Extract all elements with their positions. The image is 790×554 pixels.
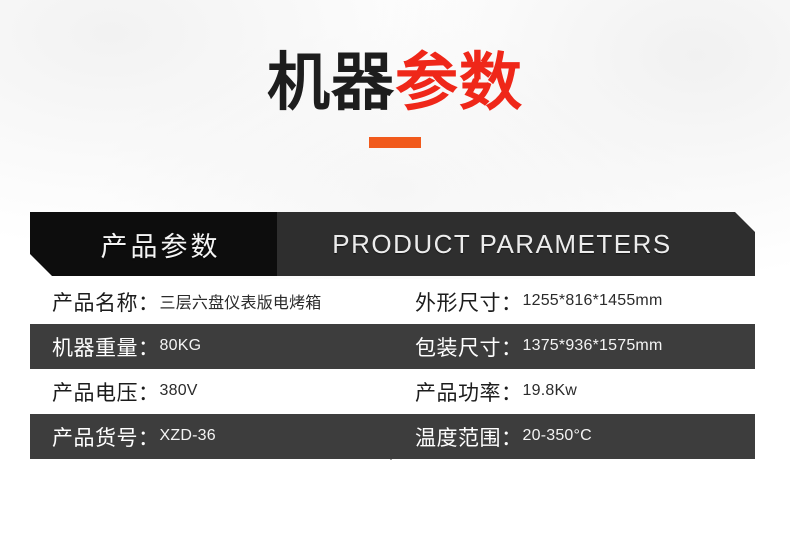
table-row: 产品名称： 三层六盘仪表版电烤箱 外形尺寸： 1255*816*1455mm [30,279,755,324]
param-value: 380V [160,382,198,401]
parameters-table: 产品名称： 三层六盘仪表版电烤箱 外形尺寸： 1255*816*1455mm 机… [30,279,755,459]
table-cell-left: 产品货号： XZD-36 [30,414,390,459]
param-value: XZD-36 [160,427,216,446]
table-cell-left: 产品名称： 三层六盘仪表版电烤箱 [30,279,390,324]
table-row: 产品电压： 380V 产品功率： 19.8Kw [30,369,755,414]
param-value: 三层六盘仪表版电烤箱 [160,289,322,314]
section-header-chinese-label: 产品参数 [101,225,221,264]
section-header-left-panel: 产品参数 [30,212,277,276]
param-label: 产品货号： [52,422,160,452]
table-cell-right: 温度范围： 20-350°C [390,414,755,459]
param-value: 80KG [160,337,202,356]
param-label: 产品电压： [52,377,160,407]
product-parameters-page: 机器参数 产品参数 PRODUCT PARAMETERS 产品名称： 三层六盘仪… [0,0,790,554]
param-label: 包装尺寸： [415,332,523,362]
section-header-right-panel: PRODUCT PARAMETERS [277,212,755,276]
table-cell-left: 产品电压： 380V [30,369,390,414]
param-label: 产品名称： [52,287,160,317]
param-value: 1375*936*1575mm [523,337,663,356]
table-cell-right: 外形尺寸： 1255*816*1455mm [390,279,755,324]
table-cell-right: 产品功率： 19.8Kw [390,369,755,414]
page-title: 机器参数 [0,44,790,122]
section-header-bar: 产品参数 PRODUCT PARAMETERS [30,212,755,276]
param-label: 产品功率： [415,377,523,407]
page-title-accent-part: 参数 [395,48,523,118]
param-label: 机器重量： [52,332,160,362]
table-cell-left: 机器重量： 80KG [30,324,390,369]
table-row: 产品货号： XZD-36 温度范围： 20-350°C [30,414,755,459]
page-title-dark-part: 机器 [267,48,395,118]
param-value: 20-350°C [523,427,592,446]
param-value: 19.8Kw [523,382,578,401]
param-label: 外形尺寸： [415,287,523,317]
table-row: 机器重量： 80KG 包装尺寸： 1375*936*1575mm [30,324,755,369]
page-title-text: 机器参数 [0,44,790,122]
table-cell-right: 包装尺寸： 1375*936*1575mm [390,324,755,369]
title-underline-rule [369,137,421,148]
param-label: 温度范围： [415,422,523,452]
section-header-english-label: PRODUCT PARAMETERS [332,229,700,260]
param-value: 1255*816*1455mm [523,292,663,311]
